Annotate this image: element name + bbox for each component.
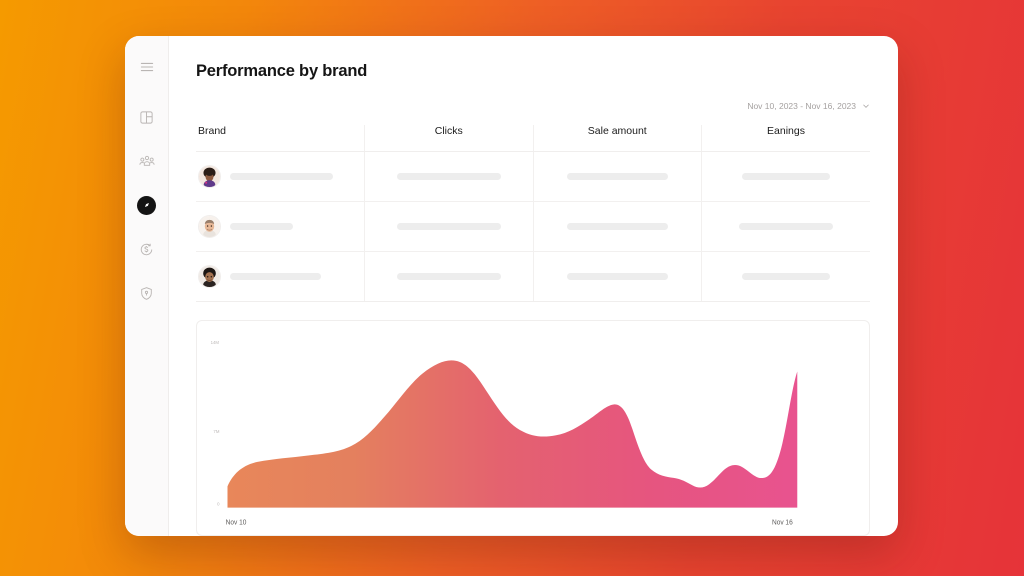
- skeleton-brand: [230, 173, 333, 180]
- cell-sale-amount: [533, 252, 702, 302]
- cell-clicks: [365, 152, 534, 202]
- column-header-sale-amount[interactable]: Sale amount: [533, 125, 702, 152]
- x-tick-label-end: Nov 16: [772, 519, 793, 526]
- skeleton-clicks: [397, 223, 501, 230]
- column-header-clicks[interactable]: Clicks: [365, 125, 534, 152]
- earnings-chart-card: 14M 7M 0 Nov 10 Nov 16: [196, 320, 870, 536]
- date-range-picker[interactable]: Nov 10, 2023 - Nov 16, 2023: [747, 101, 870, 111]
- page-title: Performance by brand: [196, 62, 870, 81]
- people-group-icon: [139, 154, 155, 169]
- skeleton-brand: [230, 223, 293, 230]
- skeleton-sale-amount: [567, 273, 668, 280]
- avatar: [198, 215, 221, 238]
- dollar-payment-icon: [139, 242, 154, 257]
- skeleton-clicks: [397, 273, 501, 280]
- hamburger-menu-icon[interactable]: [134, 54, 160, 80]
- area-chart[interactable]: 14M 7M 0 Nov 10 Nov 16: [205, 329, 861, 531]
- table-header-row: Brand Clicks Sale amount Eanings: [196, 125, 870, 152]
- chevron-down-icon: [862, 102, 870, 110]
- y-tick-label-zero: 0: [217, 501, 220, 506]
- performance-table: Brand Clicks Sale amount Eanings: [196, 125, 870, 302]
- sidebar-item-payments[interactable]: [134, 236, 160, 262]
- chart-wrap: 14M 7M 0 Nov 10 Nov 16: [205, 329, 861, 531]
- table-header: Brand Clicks Sale amount Eanings: [196, 125, 870, 152]
- skeleton-sale-amount: [567, 223, 668, 230]
- skeleton-clicks: [397, 173, 501, 180]
- shield-lock-icon: [139, 286, 154, 301]
- compass-icon: [137, 196, 156, 215]
- cell-sale-amount: [533, 152, 702, 202]
- cell-earnings: [702, 152, 871, 202]
- cell-earnings: [702, 252, 871, 302]
- dashboard-layout-icon: [139, 110, 154, 125]
- table-row[interactable]: [196, 252, 870, 302]
- sidebar-item-audience[interactable]: [134, 148, 160, 174]
- date-range-row: Nov 10, 2023 - Nov 16, 2023: [196, 101, 870, 111]
- table-body: [196, 152, 870, 302]
- app-window: Performance by brand Nov 10, 2023 - Nov …: [125, 36, 898, 536]
- sidebar: [125, 36, 169, 536]
- cell-brand: [196, 252, 365, 302]
- date-range-label: Nov 10, 2023 - Nov 16, 2023: [747, 101, 856, 111]
- cell-brand: [196, 202, 365, 252]
- skeleton-earnings: [742, 173, 829, 180]
- skeleton-earnings: [742, 273, 829, 280]
- y-tick-label-mid: 7M: [213, 429, 219, 434]
- main-content: Performance by brand Nov 10, 2023 - Nov …: [169, 36, 898, 536]
- sidebar-item-dashboard[interactable]: [134, 104, 160, 130]
- cell-clicks: [365, 252, 534, 302]
- cell-sale-amount: [533, 202, 702, 252]
- cell-brand: [196, 152, 365, 202]
- column-header-earnings[interactable]: Eanings: [702, 125, 871, 152]
- cell-earnings: [702, 202, 871, 252]
- avatar: [198, 265, 221, 288]
- x-tick-label-start: Nov 10: [226, 519, 247, 526]
- skeleton-brand: [230, 273, 321, 280]
- skeleton-earnings: [739, 223, 833, 230]
- table-row[interactable]: [196, 202, 870, 252]
- column-header-brand[interactable]: Brand: [196, 125, 365, 152]
- y-tick-label-top: 14M: [211, 340, 220, 345]
- skeleton-sale-amount: [567, 173, 668, 180]
- avatar: [198, 165, 221, 188]
- sidebar-item-security[interactable]: [134, 280, 160, 306]
- sidebar-item-discover[interactable]: [134, 192, 160, 218]
- cell-clicks: [365, 202, 534, 252]
- table-row[interactable]: [196, 152, 870, 202]
- area-series-earnings: [227, 360, 797, 507]
